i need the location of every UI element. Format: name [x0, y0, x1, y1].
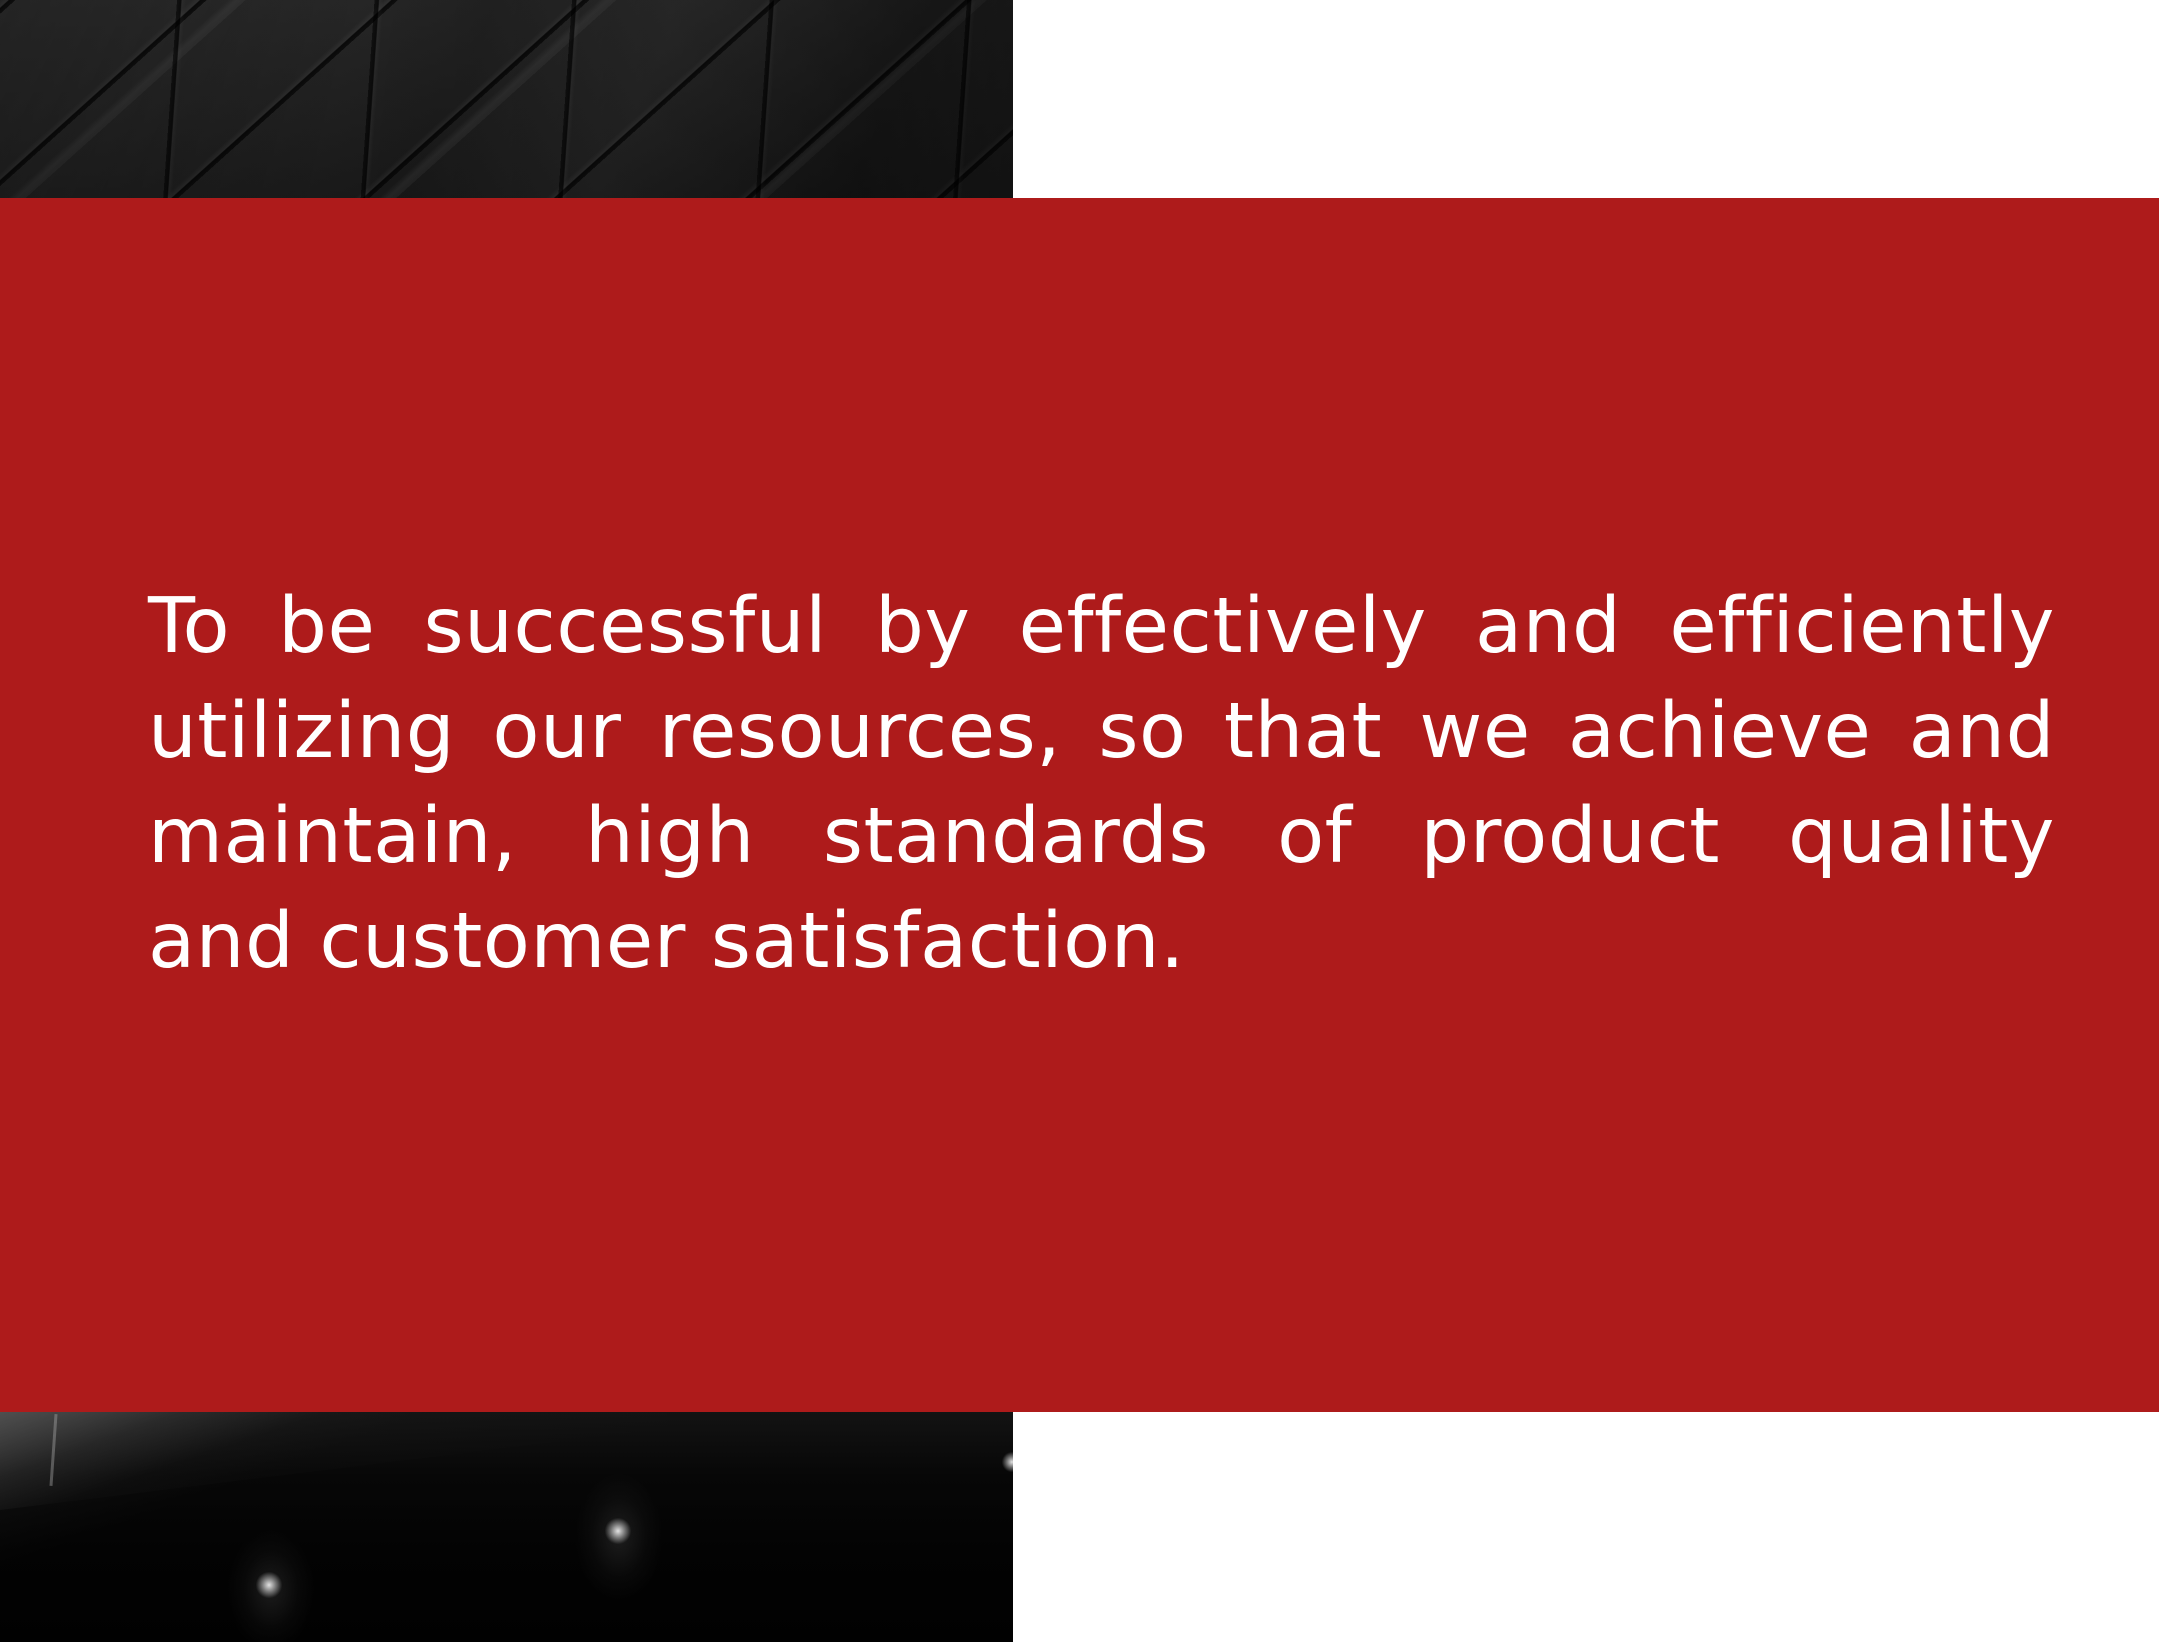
quote-word: high — [585, 784, 755, 889]
quote-line-2: utilizing our resources, so that we achi… — [148, 679, 2055, 784]
quote-line-3: maintain, high standards of product qual… — [148, 784, 2055, 889]
mission-statement-quote: To be successful by effectively and effi… — [148, 574, 2055, 994]
quote-word: so — [1098, 679, 1186, 784]
quote-word: of — [1277, 784, 1352, 889]
quote-word: and — [1909, 679, 2055, 784]
facade-shading-overlay — [0, 0, 1013, 198]
quote-word: by — [875, 574, 970, 679]
quote-word: effectively — [1019, 574, 1427, 679]
quote-word: we — [1419, 679, 1530, 784]
quote-word: To — [148, 574, 230, 679]
quote-word: be — [278, 574, 375, 679]
quote-word: efficiently — [1669, 574, 2055, 679]
quote-word: utilizing — [148, 679, 455, 784]
quote-word: maintain, — [148, 784, 517, 889]
quote-word: successful — [423, 574, 827, 679]
quote-word: our — [492, 679, 621, 784]
dark-ceiling-photo-bottom — [0, 1412, 1013, 1642]
quote-word: standards — [823, 784, 1209, 889]
quote-word: resources, — [659, 679, 1062, 784]
ceiling-light-point — [605, 1518, 631, 1544]
red-quote-band: To be successful by effectively and effi… — [0, 198, 2159, 1412]
quote-word: quality — [1788, 784, 2055, 889]
quote-line-1: To be successful by effectively and effi… — [148, 574, 2055, 679]
quote-word: achieve — [1568, 679, 1872, 784]
quote-word: product — [1420, 784, 1720, 889]
quote-word: that — [1224, 679, 1382, 784]
ceiling-light-point — [256, 1572, 282, 1598]
slide-canvas: To be successful by effectively and effi… — [0, 0, 2159, 1642]
quote-word: and — [1475, 574, 1621, 679]
architecture-facade-photo-top — [0, 0, 1013, 198]
quote-line-4: and customer satisfaction. — [148, 889, 2055, 994]
